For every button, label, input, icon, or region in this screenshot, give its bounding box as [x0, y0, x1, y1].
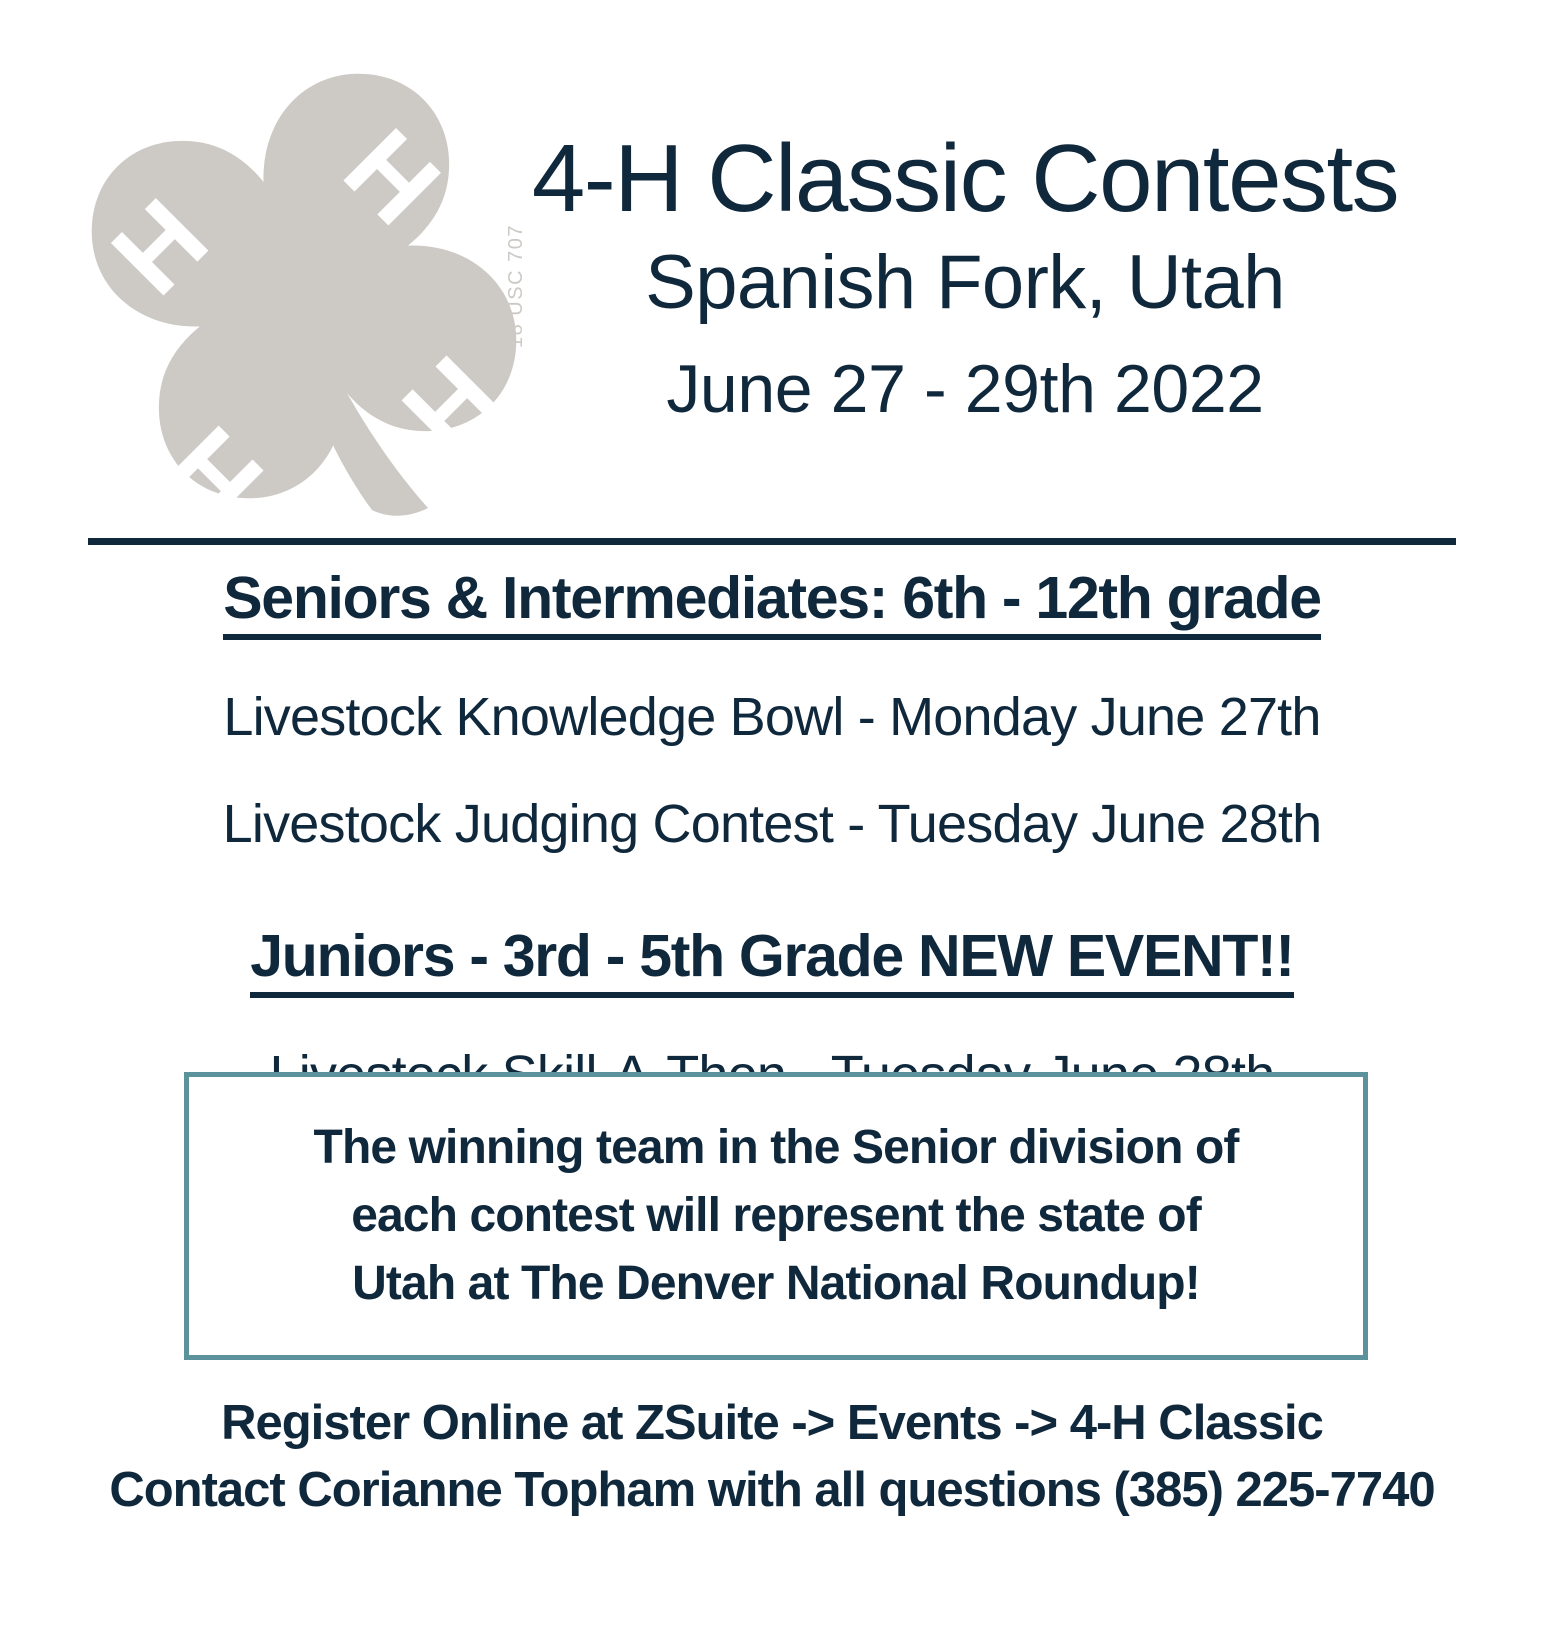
- header-block: 4-H Classic Contests Spanish Fork, Utah …: [430, 130, 1500, 440]
- event-location: Spanish Fork, Utah: [430, 228, 1500, 338]
- callout-box: The winning team in the Senior division …: [184, 1072, 1368, 1360]
- flyer-page: H H H H 18 USC 707 4-H Classic Contests …: [0, 0, 1544, 1632]
- section-seniors: Seniors & Intermediates: 6th - 12th grad…: [0, 565, 1544, 640]
- section-juniors: Juniors - 3rd - 5th Grade NEW EVENT!!: [0, 923, 1544, 998]
- event-dates: June 27 - 29th 2022: [430, 338, 1500, 440]
- page-title: 4-H Classic Contests: [430, 130, 1500, 228]
- registration-instructions: Register Online at ZSuite -> Events -> 4…: [0, 1390, 1544, 1457]
- callout-line-1: The winning team in the Senior division …: [314, 1114, 1239, 1182]
- callout-line-3: Utah at The Denver National Roundup!: [352, 1250, 1200, 1318]
- event-judging-contest: Livestock Judging Contest - Tuesday June…: [0, 795, 1544, 854]
- section-heading-juniors: Juniors - 3rd - 5th Grade NEW EVENT!!: [250, 923, 1294, 998]
- event-knowledge-bowl: Livestock Knowledge Bowl - Monday June 2…: [0, 688, 1544, 747]
- section-heading-seniors: Seniors & Intermediates: 6th - 12th grad…: [223, 565, 1321, 640]
- header-divider: [88, 538, 1456, 545]
- footer-block: Register Online at ZSuite -> Events -> 4…: [0, 1390, 1544, 1523]
- contact-info: Contact Corianne Topham with all questio…: [0, 1457, 1544, 1524]
- callout-line-2: each contest will represent the state of: [351, 1182, 1201, 1250]
- sections-container: Seniors & Intermediates: 6th - 12th grad…: [0, 565, 1544, 1105]
